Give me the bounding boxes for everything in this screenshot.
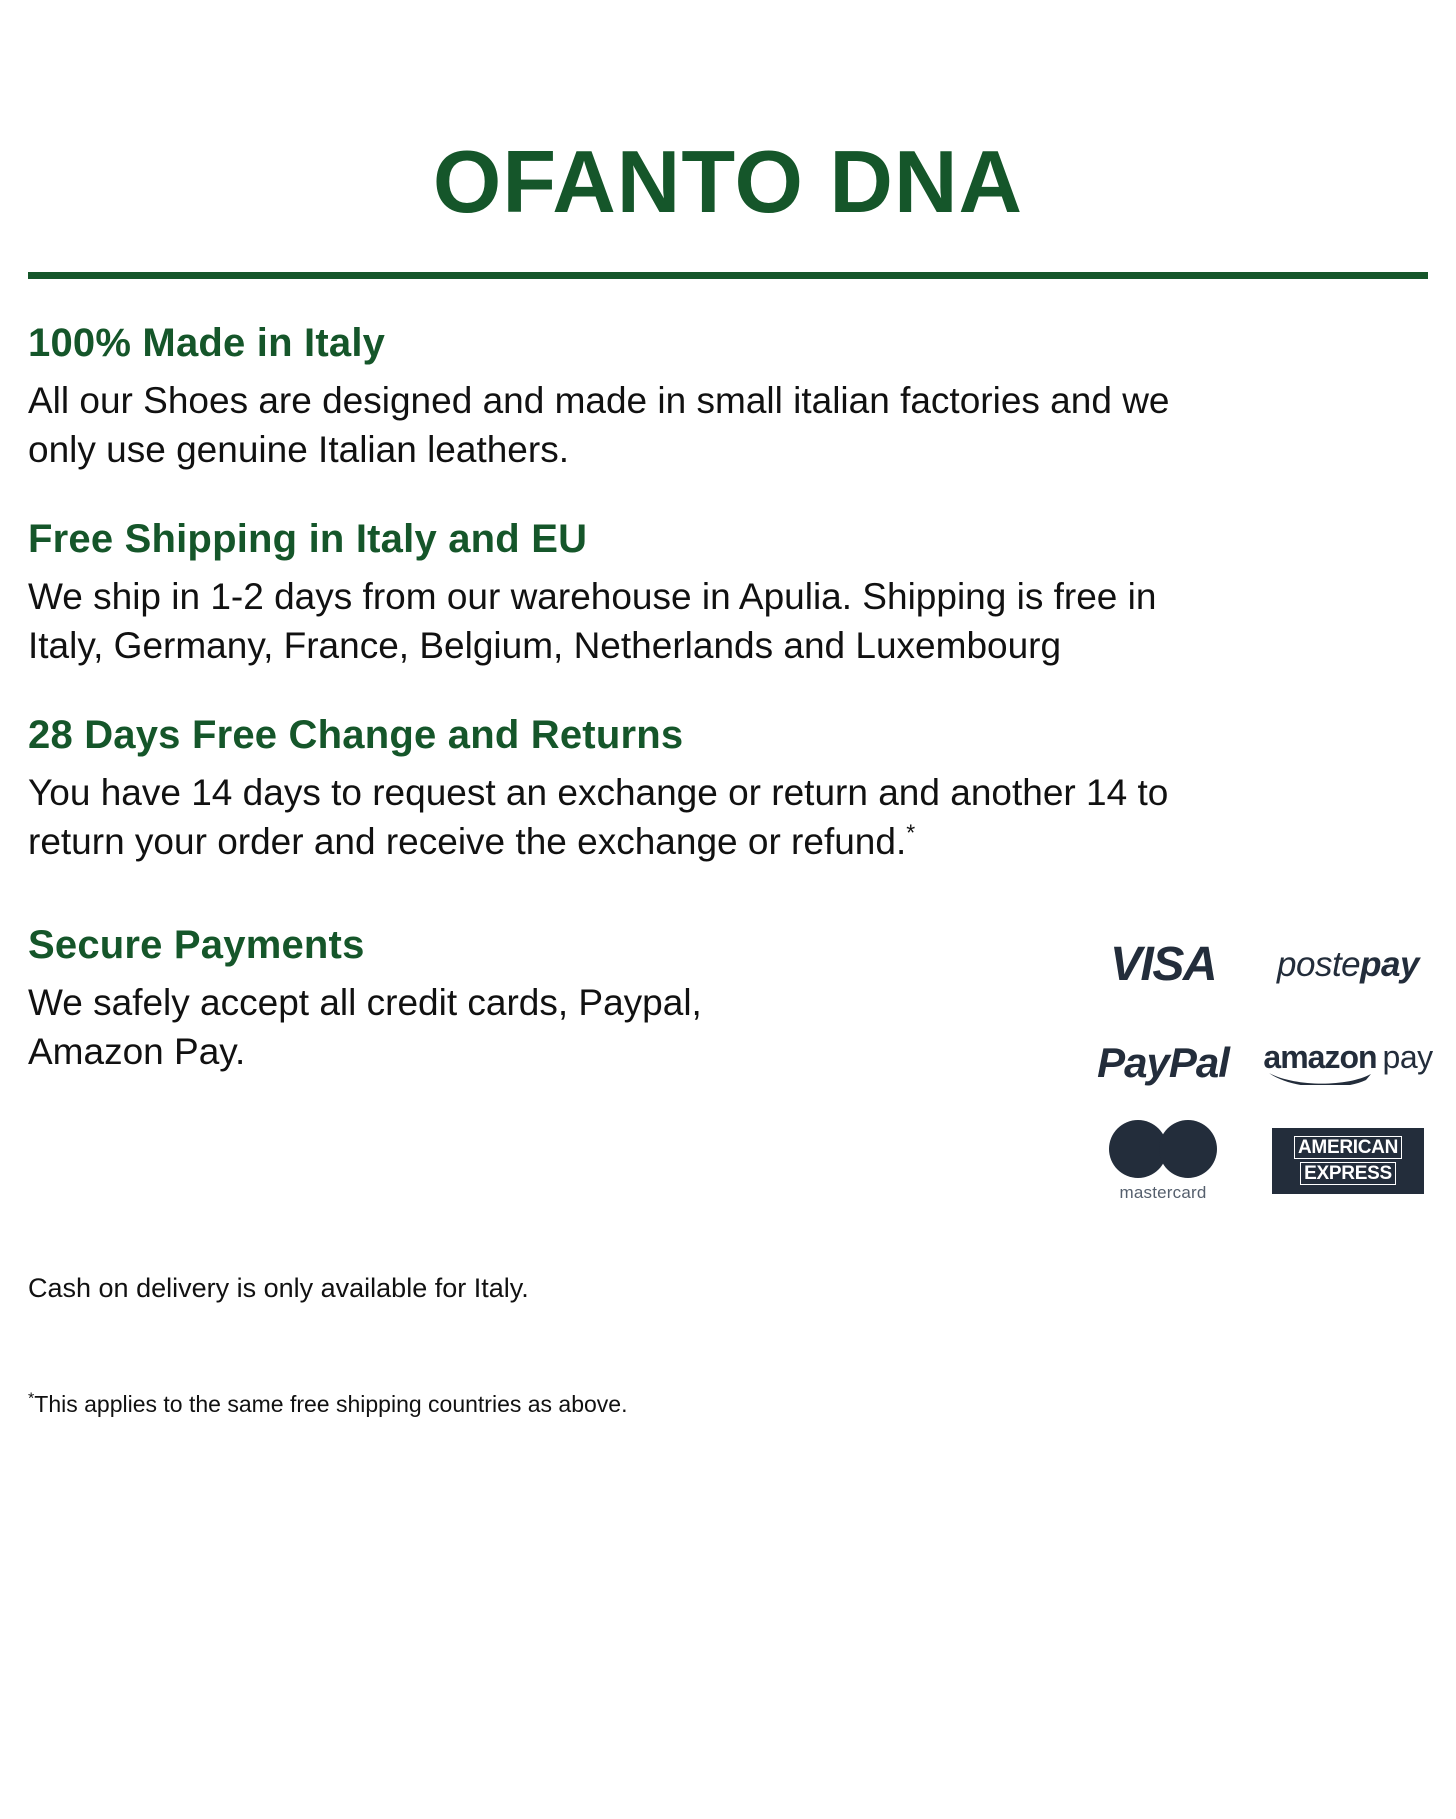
mastercard-circles-icon	[1109, 1120, 1217, 1178]
returns-footnote-marker: *	[906, 820, 915, 846]
postepay-label-bold: pay	[1360, 945, 1419, 984]
visa-logo-cell: VISA	[1088, 929, 1238, 1001]
mastercard-label: mastercard	[1119, 1184, 1206, 1201]
mastercard-circle-right	[1159, 1120, 1217, 1178]
amazon-pay-icon: amazonpay	[1263, 1041, 1432, 1085]
secure-payments-text: Secure Payments We safely accept all cre…	[28, 923, 788, 1077]
section-body-made-in-italy: All our Shoes are designed and made in s…	[28, 376, 1208, 475]
section-body-secure-payments: We safely accept all credit cards, Paypa…	[28, 978, 788, 1077]
footnote-text: This applies to the same free shipping c…	[34, 1391, 627, 1417]
cash-on-delivery-note: Cash on delivery is only available for I…	[28, 1271, 1428, 1306]
footnote: *This applies to the same free shipping …	[28, 1390, 1428, 1420]
amazon-pay-label-light: pay	[1383, 1039, 1433, 1075]
amex-line-1: AMERICAN	[1294, 1136, 1402, 1159]
section-heading-free-shipping: Free Shipping in Italy and EU	[28, 517, 1428, 562]
page-title: OFANTO DNA	[28, 138, 1428, 226]
payment-logo-grid: VISA postepay PayPal amazonpay	[1088, 929, 1428, 1197]
section-body-free-shipping: We ship in 1-2 days from our warehouse i…	[28, 572, 1208, 671]
section-secure-payments: Secure Payments We safely accept all cre…	[28, 923, 1428, 1197]
section-heading-made-in-italy: 100% Made in Italy	[28, 321, 1428, 366]
section-body-returns: You have 14 days to request an exchange …	[28, 768, 1208, 867]
postepay-icon: postepay	[1277, 947, 1419, 982]
section-free-shipping: Free Shipping in Italy and EU We ship in…	[28, 517, 1428, 671]
title-block: OFANTO DNA	[28, 0, 1428, 226]
section-made-in-italy: 100% Made in Italy All our Shoes are des…	[28, 321, 1428, 475]
amex-line-2: EXPRESS	[1300, 1162, 1396, 1185]
visa-icon: VISA	[1110, 941, 1216, 989]
amazon-smile-icon	[1267, 1071, 1375, 1085]
ofanto-dna-page: OFANTO DNA 100% Made in Italy All our Sh…	[0, 0, 1456, 1819]
section-heading-returns: 28 Days Free Change and Returns	[28, 713, 1428, 758]
amazon-pay-logo-cell: amazonpay	[1268, 1027, 1428, 1099]
section-returns: 28 Days Free Change and Returns You have…	[28, 713, 1428, 867]
postepay-label-light: poste	[1277, 945, 1360, 984]
paypal-icon: PayPal	[1097, 1042, 1229, 1084]
section-heading-secure-payments: Secure Payments	[28, 923, 788, 968]
amazon-pay-label-bold: amazon	[1263, 1039, 1376, 1075]
american-express-icon: AMERICAN EXPRESS	[1272, 1128, 1424, 1194]
returns-body-text: You have 14 days to request an exchange …	[28, 772, 1168, 863]
paypal-logo-cell: PayPal	[1088, 1027, 1238, 1099]
mastercard-logo-cell: mastercard	[1088, 1125, 1238, 1197]
title-divider	[28, 272, 1428, 279]
mastercard-icon: mastercard	[1109, 1120, 1217, 1201]
american-express-logo-cell: AMERICAN EXPRESS	[1268, 1125, 1428, 1197]
postepay-logo-cell: postepay	[1268, 929, 1428, 1001]
